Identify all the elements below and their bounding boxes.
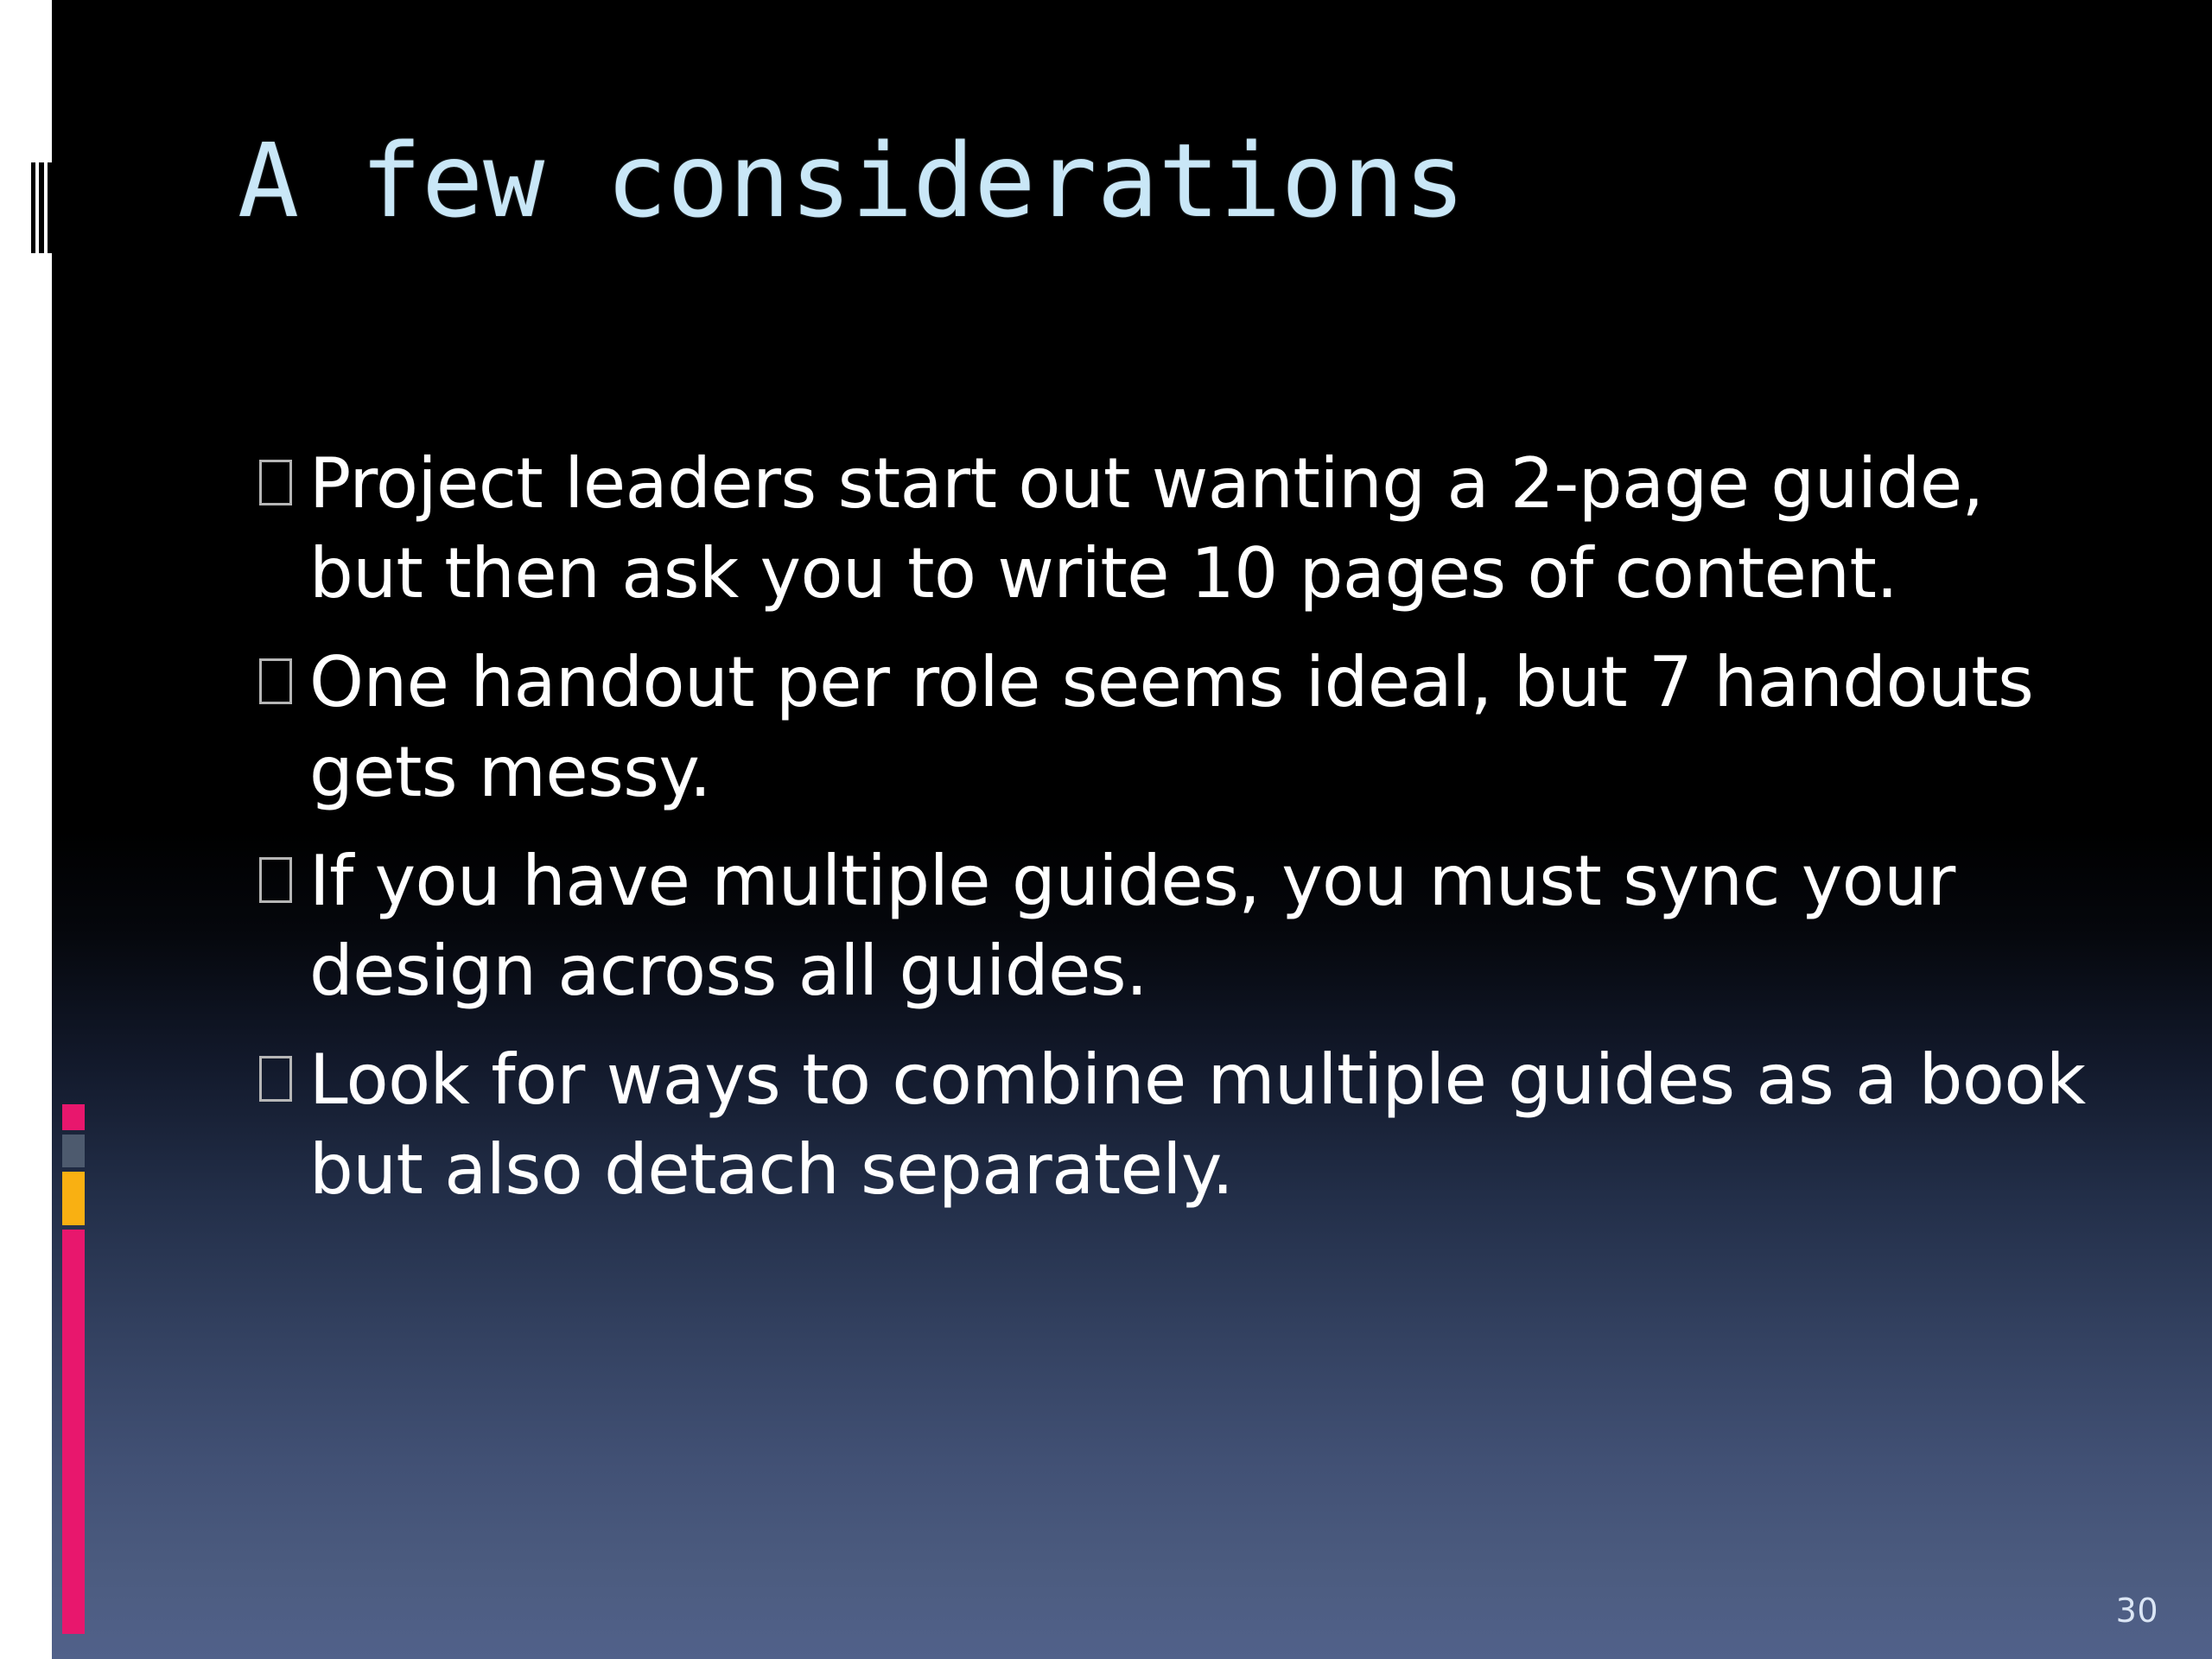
accent-chip-pink-long [62,1230,85,1634]
decorative-bar-3 [48,162,55,253]
bullet-text: If you have multiple guides, you must sy… [309,836,2091,1016]
empty-box-icon [259,658,292,704]
bullet-item: One handout per role seems ideal, but 7 … [259,638,2091,817]
accent-color-stack [62,1104,85,1634]
accent-chip-pink-top [62,1104,85,1130]
decorative-bar-2 [39,162,44,253]
bullet-text: Project leaders start out wanting a 2-pa… [309,439,2091,619]
presentation-slide: A few considerations Project leaders sta… [0,0,2212,1659]
decorative-bar-1 [31,162,35,253]
empty-box-icon [259,857,292,903]
empty-box-icon [259,1056,292,1102]
bullet-item: If you have multiple guides, you must sy… [259,836,2091,1016]
page-number: 30 [2116,1592,2158,1630]
bullet-text: One handout per role seems ideal, but 7 … [309,638,2091,817]
decorative-bar-4 [59,162,70,253]
accent-chip-slate [62,1135,85,1167]
decorative-vertical-bars [31,162,70,253]
bullet-item: Project leaders start out wanting a 2-pa… [259,439,2091,619]
slide-title: A few considerations [238,128,1465,235]
empty-box-icon [259,460,292,505]
accent-chip-amber [62,1172,85,1225]
bullet-item: Look for ways to combine multiple guides… [259,1035,2091,1215]
bullet-text: Look for ways to combine multiple guides… [309,1035,2091,1215]
slide-body-list: Project leaders start out wanting a 2-pa… [259,439,2091,1234]
